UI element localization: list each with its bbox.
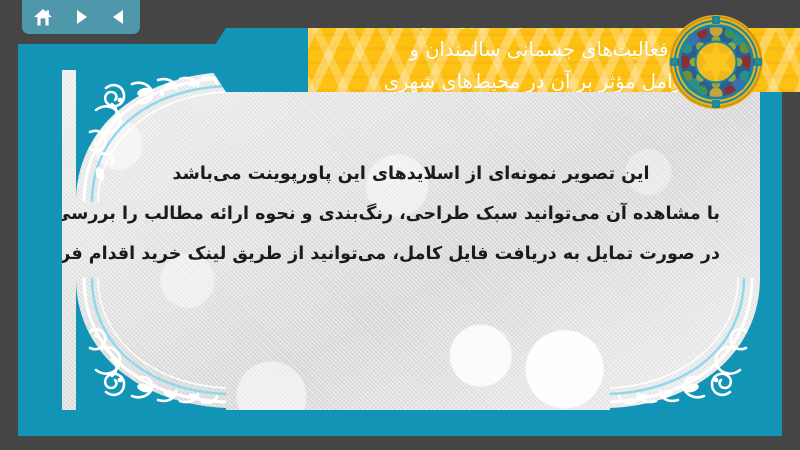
- slide-body-text: این تصویر نمونه‌ای از اسلایدهای این پاور…: [102, 154, 720, 274]
- persian-medallion-ornament-icon: [668, 14, 764, 110]
- next-slide-button[interactable]: [68, 4, 94, 30]
- slide-frame: این تصویر نمونه‌ای از اسلایدهای این پاور…: [18, 44, 782, 436]
- title-pennant: [205, 28, 310, 92]
- home-icon: [33, 8, 53, 27]
- previous-slide-button[interactable]: [106, 4, 132, 30]
- slide-content-area: این تصویر نمونه‌ای از اسلایدهای این پاور…: [62, 70, 760, 410]
- slide-viewer: این تصویر نمونه‌ای از اسلایدهای این پاور…: [0, 0, 800, 450]
- slide-body-line-1: این تصویر نمونه‌ای از اسلایدهای این پاور…: [102, 154, 720, 194]
- home-button[interactable]: [30, 4, 56, 30]
- slide-navigation: [22, 0, 140, 34]
- persian-floral-corner-ornament-bottom-left-icon: [76, 278, 226, 410]
- triangle-right-icon: [72, 8, 90, 26]
- slide-body-line-3: در صورت تمایل به دریافت فایل کامل، می‌تو…: [102, 234, 720, 274]
- slide-body-line-2: با مشاهده آن می‌توانید سبک طراحی، رنگ‌بن…: [102, 194, 720, 234]
- triangle-left-icon: [110, 8, 128, 26]
- persian-floral-corner-ornament-bottom-right-icon: [610, 278, 760, 410]
